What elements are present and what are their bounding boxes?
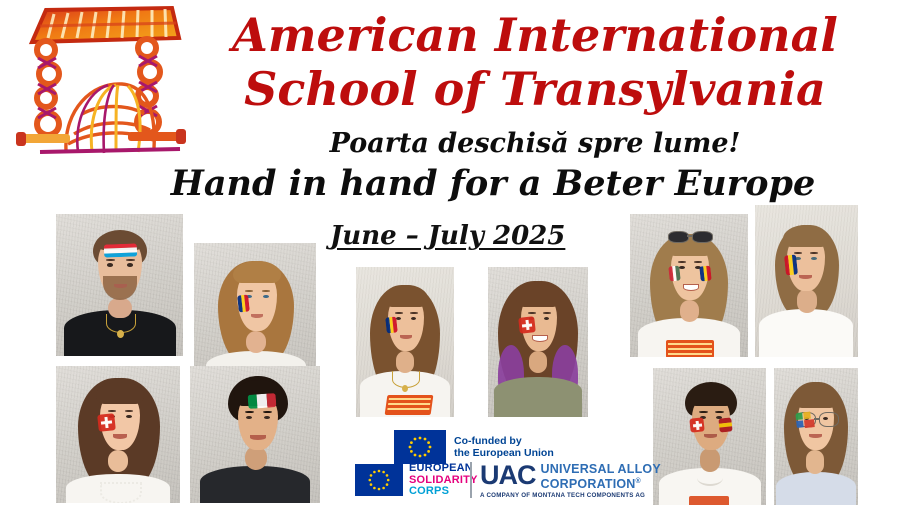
photo-7 <box>630 214 748 357</box>
uac-tagline: A COMPANY OF MONTANA TECH COMPONENTS AG <box>480 492 661 500</box>
face-paint-flag-switzerland <box>689 417 704 432</box>
shirt-school-logo-print <box>385 395 434 415</box>
esc-word-corps: CORPS <box>409 486 478 498</box>
face-paint-flag-italy <box>248 393 277 409</box>
face-paint-flag-switzerland <box>518 316 536 334</box>
shirt-school-logo-print <box>666 340 714 357</box>
photo-2 <box>194 243 316 386</box>
motto-romanian: Poarta deschisă spre lume! <box>190 128 880 160</box>
face-paint-flag-hungary <box>668 265 681 281</box>
page-title: American International School of Transyl… <box>190 8 880 116</box>
title-line-1: American International <box>190 8 880 62</box>
uac-registered-mark: ® <box>636 478 641 485</box>
european-solidarity-corps-logo: EUROPEAN SOLIDARITY CORPS <box>355 463 478 498</box>
sunglasses-on-head <box>668 231 712 241</box>
event-dates: June – July 2025 <box>330 221 565 251</box>
uac-name-line-1: UNIVERSAL ALLOY <box>541 463 661 476</box>
school-gate-globe-logo <box>4 2 194 162</box>
uac-wordmark: UAC <box>480 462 536 488</box>
eu-funding-line-2: the European Union <box>454 447 554 460</box>
photo-5 <box>356 267 454 417</box>
motto-english: Hand in hand for a Beter Europe <box>98 163 888 205</box>
photo-9 <box>653 368 766 505</box>
eu-funding-text: Co-funded by the European Union <box>454 435 554 460</box>
logo-divider <box>470 462 472 498</box>
european-union-logo: Co-funded by the European Union <box>394 430 554 464</box>
face-paint-european-colours <box>795 411 817 429</box>
face-paint-flag-romania <box>385 316 398 333</box>
face-paint-flag-romania <box>237 294 250 312</box>
photo-10 <box>774 368 858 505</box>
title-line-2: School of Transylvania <box>190 62 880 116</box>
esc-wordmark: EUROPEAN SOLIDARITY CORPS <box>409 463 478 498</box>
photo-3 <box>56 366 180 503</box>
photo-6 <box>488 267 588 417</box>
poster-canvas: American International School of Transyl… <box>0 0 900 508</box>
face-paint-flag-switzerland <box>97 413 116 432</box>
photo-4 <box>190 366 320 503</box>
esc-word-european: EUROPEAN <box>409 463 478 475</box>
universal-alloy-corporation-logo: UAC UNIVERSAL ALLOY CORPORATION® A COMPA… <box>480 462 661 500</box>
face-paint-flag-romania <box>784 254 798 275</box>
eu-funding-line-1: Co-funded by <box>454 435 554 448</box>
face-paint-flag-spain <box>718 417 732 432</box>
face-paint-flag-romania <box>699 265 712 281</box>
uac-name-line-2: CORPORATION <box>541 477 636 491</box>
uac-full-name: UNIVERSAL ALLOY CORPORATION® <box>541 462 661 490</box>
photo-1 <box>56 214 183 356</box>
eu-flag-icon <box>394 430 446 464</box>
esc-flag-icon <box>355 464 403 496</box>
face-paint-flag-luxembourg <box>104 243 137 257</box>
photo-8 <box>755 205 858 357</box>
